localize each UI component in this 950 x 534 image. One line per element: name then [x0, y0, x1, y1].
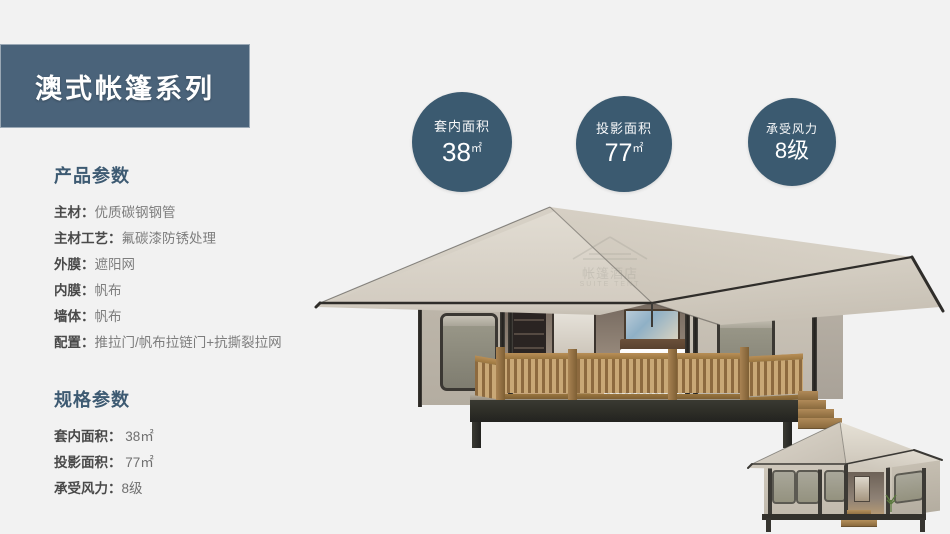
thumbnail-tent-illustration [742, 414, 950, 534]
stat-label: 投影面积 [596, 122, 652, 135]
mini-tent-base [762, 514, 926, 520]
stat-value: 38㎡ [442, 139, 482, 165]
railing-post [568, 349, 577, 405]
stat-label: 承受风力 [766, 123, 818, 135]
deck-leg [472, 422, 481, 448]
spec-label: 墙体： [54, 309, 95, 324]
railing-post [496, 347, 505, 405]
railing-post [740, 347, 749, 403]
deck-railing-right [743, 353, 803, 402]
slide-root: 澳式帐篷系列 产品参数 主材：优质碳钢钢管 主材工艺：氟碳漆防锈处理 外膜：遮阳… [0, 0, 950, 534]
spec-value: 推拉门/帆布拉链门+抗撕裂拉网 [95, 335, 282, 350]
stat-value: 8级 [775, 140, 809, 162]
spec-row: 承受风力：8级 [54, 476, 354, 502]
spec-label: 主材工艺： [54, 231, 122, 246]
stat-badge-wind-resistance: 承受风力 8级 [748, 98, 836, 186]
spec-label: 套内面积： [54, 429, 122, 444]
section-heading-product: 产品参数 [54, 162, 354, 188]
mini-tent-leg [920, 518, 925, 532]
spec-label: 外膜： [54, 257, 95, 272]
spec-label: 主材： [54, 205, 95, 220]
spec-value: 77㎡ [125, 455, 154, 470]
title-banner: 澳式帐篷系列 [0, 44, 250, 128]
mini-tent-leg [766, 518, 771, 532]
mini-tent-roof [742, 414, 950, 484]
deck-railing-front [500, 353, 745, 399]
spec-value: 遮阳网 [95, 257, 136, 272]
spec-label: 承受风力： [54, 481, 122, 496]
spec-label: 内膜： [54, 283, 95, 298]
spec-label: 配置： [54, 335, 95, 350]
tent-roof-canopy [300, 195, 950, 345]
spec-value: 优质碳钢钢管 [95, 205, 176, 220]
spec-label: 投影面积： [54, 455, 122, 470]
stat-badge-interior-area: 套内面积 38㎡ [412, 92, 512, 192]
spec-value: 帆布 [95, 283, 122, 298]
railing-post [668, 349, 677, 403]
spec-value: 氟碳漆防锈处理 [122, 231, 217, 246]
spec-value: 帆布 [95, 309, 122, 324]
stat-value: 77㎡ [605, 141, 644, 166]
stat-label: 套内面积 [434, 120, 490, 133]
spec-value: 38㎡ [125, 429, 154, 444]
stat-badge-projected-area: 投影面积 77㎡ [576, 96, 672, 192]
page-title: 澳式帐篷系列 [35, 67, 215, 106]
mini-tent-plant [884, 492, 898, 512]
spec-value: 8级 [122, 481, 143, 496]
